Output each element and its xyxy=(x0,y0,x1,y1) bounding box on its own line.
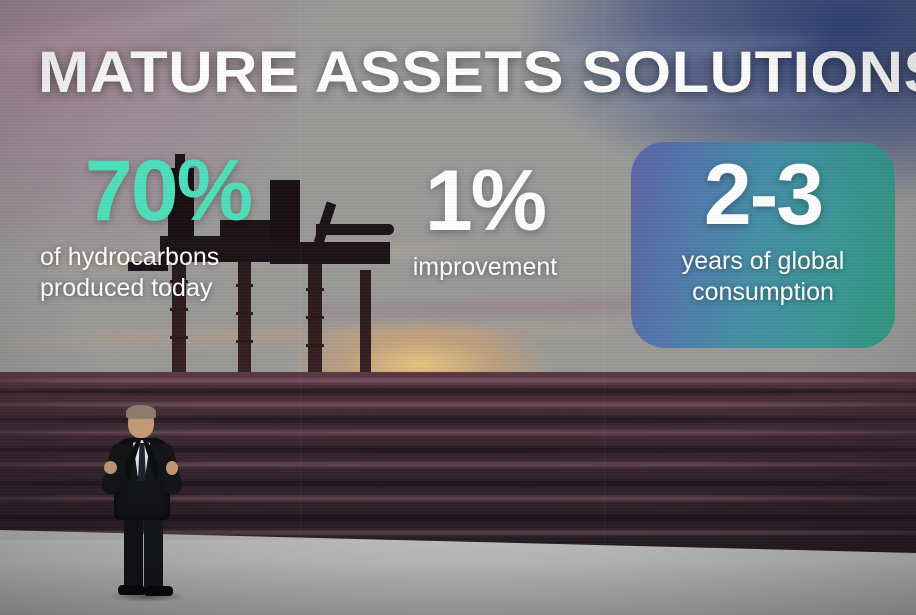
statistics-group: 70% of hydrocarbons produced today 1% im… xyxy=(0,140,916,360)
stat-caption-line-2: consumption xyxy=(637,277,889,308)
presenter-shoe-left xyxy=(118,585,146,595)
stat-value: 70% xyxy=(18,148,318,234)
presenter xyxy=(100,405,220,600)
presenter-hand-right xyxy=(166,461,178,475)
stat-value: 2-3 xyxy=(637,152,889,238)
presenter-leg-left xyxy=(124,515,143,589)
presenter-hair xyxy=(126,405,156,419)
presenter-leg-right xyxy=(144,515,163,589)
conference-stage-scene: MATURE ASSETS SOLUTIONS 70% of hydrocarb… xyxy=(0,0,916,615)
presenter-hand-left xyxy=(104,461,117,474)
stat-caption-line-1: improvement xyxy=(370,252,600,283)
stat-value: 1% xyxy=(370,158,600,244)
slide-title: MATURE ASSETS SOLUTIONS xyxy=(38,44,916,102)
stat-caption-line-2: produced today xyxy=(18,273,318,304)
stat-block-improvement: 1% improvement xyxy=(370,158,600,283)
stat-block-consumption: 2-3 years of global consumption xyxy=(637,152,889,308)
stat-block-hydrocarbons: 70% of hydrocarbons produced today xyxy=(18,148,318,304)
presenter-shoe-right xyxy=(144,586,173,596)
stat-caption-line-1: years of global xyxy=(637,246,889,277)
stat-caption-line-1: of hydrocarbons xyxy=(18,242,318,273)
